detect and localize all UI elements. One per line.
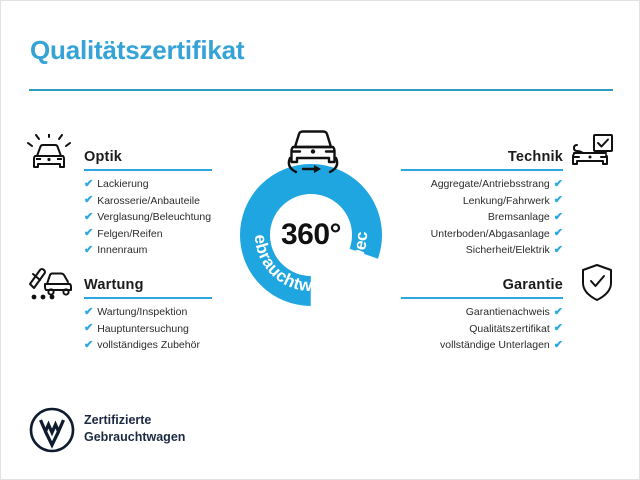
vw-logo-icon [29, 407, 75, 453]
section-optik-title: Optik [84, 149, 122, 165]
list-item-label: vollständiges Zubehör [97, 337, 200, 354]
list-item: ✔Karosserie/Anbauteile [84, 193, 212, 210]
check-icon: ✔ [84, 228, 93, 239]
section-technik-title: Technik [508, 149, 563, 165]
list-item-label: Lenkung/Fahrwerk [463, 193, 550, 210]
list-item-label: Aggregate/Antriebsstrang [431, 176, 550, 193]
section-optik-header: Optik [84, 142, 212, 168]
section-garantie-title: Garantie [503, 277, 563, 293]
check-icon: ✔ [84, 323, 93, 334]
check-icon: ✔ [84, 340, 93, 351]
list-item: vollständige Unterlagen✔ [401, 337, 563, 354]
car-checkbox-icon [569, 134, 615, 174]
list-item-label: Verglasung/Beleuchtung [97, 209, 211, 226]
list-item: ✔Felgen/Reifen [84, 226, 212, 243]
list-item-label: Lackierung [97, 176, 148, 193]
list-item-label: Qualitätszertifikat [469, 321, 550, 338]
section-wartung-header: Wartung [84, 270, 212, 296]
list-item: ✔vollständiges Zubehör [84, 337, 212, 354]
check-icon: ✔ [84, 179, 93, 190]
vw-footer-line2: Gebrauchtwagen [84, 429, 185, 446]
check-icon: ✔ [554, 179, 563, 190]
check-icon: ✔ [84, 307, 93, 318]
section-technik-list: Aggregate/Antriebsstrang✔ Lenkung/Fahrwe… [401, 176, 563, 259]
check-icon: ✔ [84, 245, 93, 256]
check-icon: ✔ [84, 212, 93, 223]
badge-center-label: 360° [237, 161, 385, 309]
check-icon: ✔ [554, 195, 563, 206]
badge-360-gebrauchtwagen-check: Gebrauchtwagen-Check 360° [237, 161, 385, 309]
car-shine-icon [27, 134, 73, 174]
quality-certificate-page: Qualitätszertifikat Optik [0, 0, 640, 480]
list-item: ✔Verglasung/Beleuchtung [84, 209, 212, 226]
check-icon: ✔ [554, 228, 563, 239]
list-item-label: vollständige Unterlagen [440, 337, 550, 354]
check-icon: ✔ [84, 195, 93, 206]
list-item: Qualitätszertifikat✔ [401, 321, 563, 338]
section-optik-divider [84, 169, 212, 171]
list-item: ✔Lackierung [84, 176, 212, 193]
list-item: Unterboden/Abgasanlage✔ [401, 226, 563, 243]
section-optik: Optik ✔Lackierung ✔Karosserie/Anbauteile… [84, 142, 212, 168]
check-icon: ✔ [554, 323, 563, 334]
list-item: Garantienachweis✔ [401, 304, 563, 321]
list-item-label: Innenraum [97, 242, 147, 259]
list-item-label: Felgen/Reifen [97, 226, 162, 243]
section-garantie: Garantie Garantienachweis✔ Qualitätszert… [401, 270, 563, 296]
list-item: Aggregate/Antriebsstrang✔ [401, 176, 563, 193]
list-item-label: Garantienachweis [466, 304, 550, 321]
vw-footer-line1: Zertifizierte [84, 412, 185, 429]
section-optik-list: ✔Lackierung ✔Karosserie/Anbauteile ✔Verg… [84, 176, 212, 259]
section-technik-header: Technik [401, 142, 563, 168]
list-item-label: Hauptuntersuchung [97, 321, 189, 338]
list-item: ✔Wartung/Inspektion [84, 304, 212, 321]
list-item: ✔Innenraum [84, 242, 212, 259]
list-item: Lenkung/Fahrwerk✔ [401, 193, 563, 210]
vw-footer-text: Zertifizierte Gebrauchtwagen [84, 412, 185, 446]
check-icon: ✔ [554, 212, 563, 223]
section-technik-divider [401, 169, 563, 171]
list-item-label: Bremsanlage [488, 209, 550, 226]
list-item: ✔Hauptuntersuchung [84, 321, 212, 338]
section-wartung-divider [84, 297, 212, 299]
page-title: Qualitätszertifikat [30, 35, 244, 66]
check-icon: ✔ [554, 307, 563, 318]
section-garantie-header: Garantie [401, 270, 563, 296]
car-wrench-icon [27, 264, 73, 304]
car-rotate-icon [273, 125, 353, 183]
shield-check-icon [577, 263, 623, 303]
section-wartung-title: Wartung [84, 277, 144, 293]
list-item-label: Wartung/Inspektion [97, 304, 187, 321]
list-item-label: Sicherheit/Elektrik [466, 242, 550, 259]
section-garantie-list: Garantienachweis✔ Qualitätszertifikat✔ v… [401, 304, 563, 354]
list-item-label: Karosserie/Anbauteile [97, 193, 200, 210]
section-wartung-list: ✔Wartung/Inspektion ✔Hauptuntersuchung ✔… [84, 304, 212, 354]
section-wartung: Wartung ✔Wartung/Inspektion ✔Hauptunters… [84, 270, 212, 296]
list-item-label: Unterboden/Abgasanlage [431, 226, 550, 243]
section-garantie-divider [401, 297, 563, 299]
title-divider [29, 89, 613, 91]
check-icon: ✔ [554, 245, 563, 256]
list-item: Bremsanlage✔ [401, 209, 563, 226]
list-item: Sicherheit/Elektrik✔ [401, 242, 563, 259]
check-icon: ✔ [554, 340, 563, 351]
section-technik: Technik Aggregate/Antriebsstrang✔ Lenkun… [401, 142, 563, 168]
